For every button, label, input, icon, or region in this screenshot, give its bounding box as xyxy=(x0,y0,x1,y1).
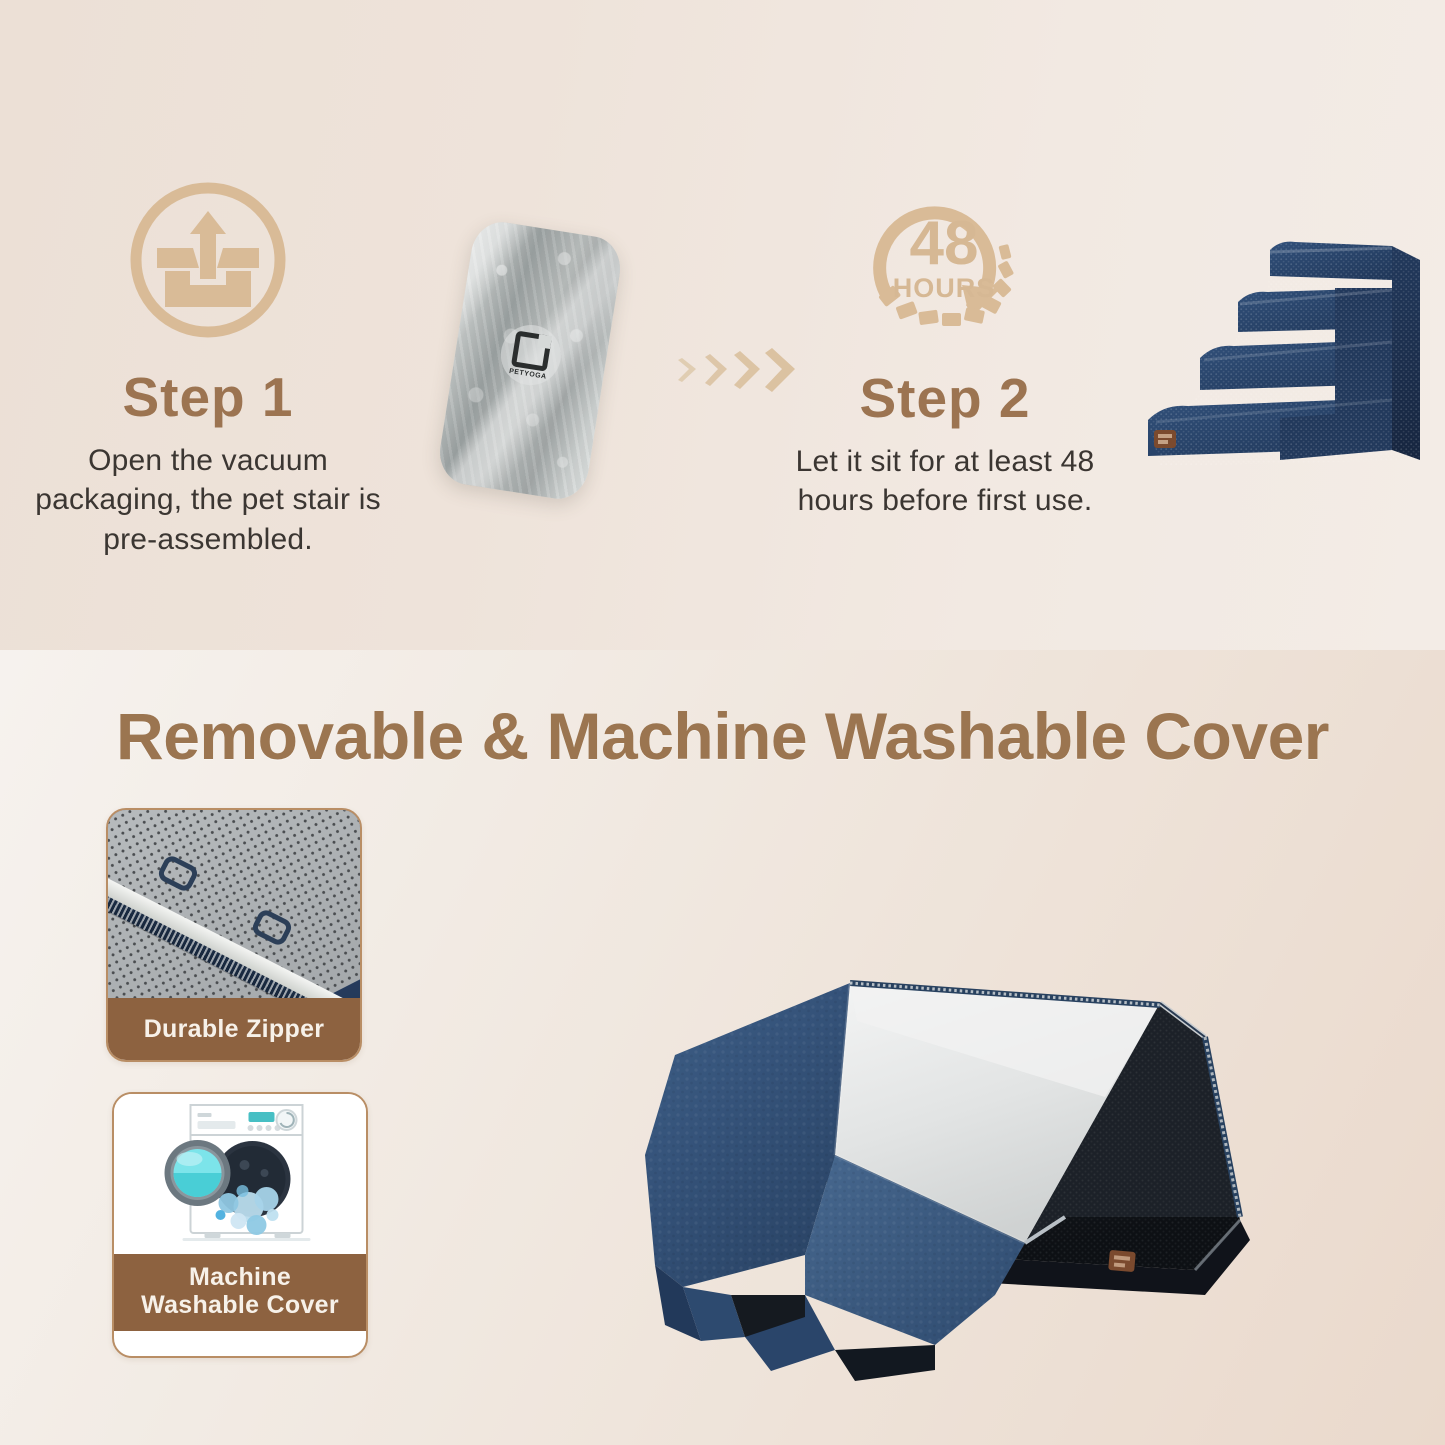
step-1-title: Step 1 xyxy=(18,369,398,427)
washing-machine-image xyxy=(114,1094,366,1254)
card-label-machine-washable: Machine Washable Cover xyxy=(114,1254,366,1331)
card-label-line-2: Washable Cover xyxy=(114,1291,366,1319)
setup-steps-section: Step 1 Open the vacuum packaging, the pe… xyxy=(0,0,1445,650)
step-2-title: Step 2 xyxy=(760,370,1130,428)
hours-unit: HOURS xyxy=(892,273,995,303)
card-label-durable-zipper: Durable Zipper xyxy=(108,998,360,1060)
feature-card-durable-zipper[interactable]: Durable Zipper xyxy=(106,808,362,1062)
brand-tag-main xyxy=(1108,1250,1136,1272)
feature-card-machine-washable[interactable]: Machine Washable Cover xyxy=(112,1092,368,1358)
vacuum-package-photo: PETYOGA xyxy=(435,218,625,503)
step-1-block: Step 1 Open the vacuum packaging, the pe… xyxy=(18,175,398,560)
step-2-block: 48 HOURS Step 2 Let it sit for at least … xyxy=(760,185,1130,521)
product-infographic: Step 1 Open the vacuum packaging, the pe… xyxy=(0,0,1445,1445)
step-2-description: Let it sit for at least 48 hours before … xyxy=(760,442,1130,521)
brand-tag xyxy=(1154,430,1176,448)
zipper-closeup-image xyxy=(108,810,360,998)
card-label-line-1: Machine xyxy=(114,1263,366,1291)
open-box-arrow-icon xyxy=(123,175,293,345)
hours-number: 48 xyxy=(909,209,978,278)
pet-stair-photo xyxy=(1130,228,1440,518)
48-hours-clock-icon: 48 HOURS xyxy=(858,185,1033,350)
step-1-description: Open the vacuum packaging, the pet stair… xyxy=(18,441,398,560)
main-product-photo xyxy=(505,825,1295,1385)
section-title: Removable & Machine Washable Cover xyxy=(0,698,1445,774)
